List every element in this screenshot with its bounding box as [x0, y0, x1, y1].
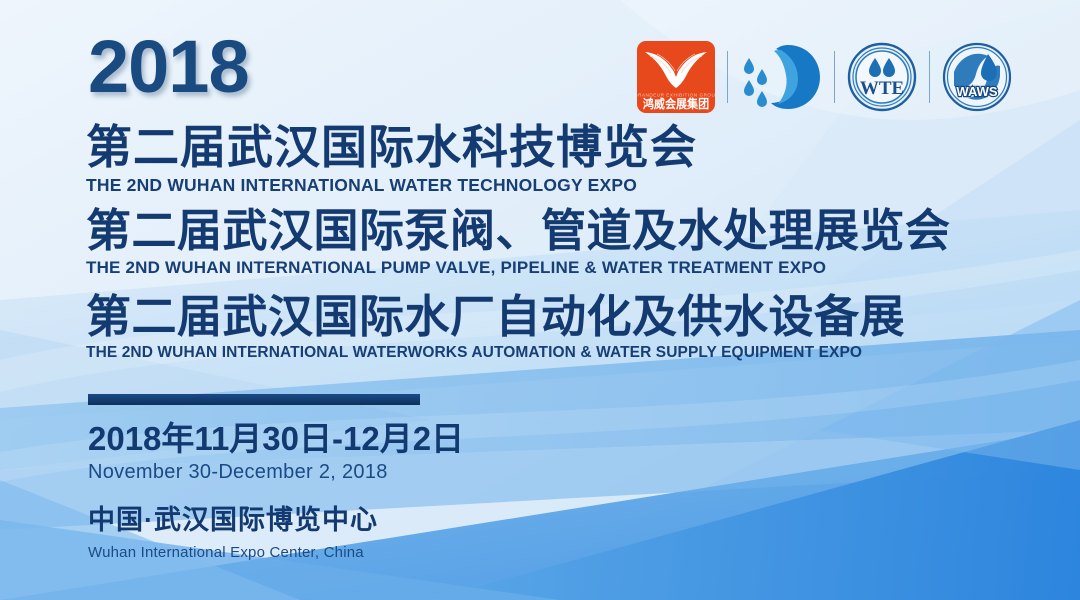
heading-1-english: THE 2ND WUHAN INTERNATIONAL WATER TECHNO…	[86, 175, 697, 196]
heading-2-english: THE 2ND WUHAN INTERNATIONAL PUMP VALVE, …	[86, 258, 951, 278]
expo-poster: 2018 GRANDEUR EXHIBITION GROUP 鸿威会展集团	[0, 0, 1080, 600]
logo-separator	[834, 51, 835, 103]
heading-block-pump-valve-pipeline: 第二届武汉国际泵阀、管道及水处理展览会 THE 2ND WUHAN INTERN…	[86, 208, 951, 278]
waws-emblem-icon: WAWS	[942, 42, 1012, 112]
heading-2-chinese: 第二届武汉国际泵阀、管道及水处理展览会	[86, 208, 951, 254]
water-droplet-swirl-icon	[740, 41, 822, 113]
logo-wte: WTE	[847, 42, 917, 112]
heading-3-english: THE 2ND WUHAN INTERNATIONAL WATERWORKS A…	[86, 344, 905, 362]
logo-hongwei-chinese: 鸿威会展集团	[643, 98, 709, 110]
event-date-english: November 30-December 2, 2018	[88, 461, 464, 484]
heading-block-waterworks-automation: 第二届武汉国际水厂自动化及供水设备展 THE 2ND WUHAN INTERNA…	[86, 294, 905, 362]
logo-separator	[727, 51, 728, 103]
event-date-chinese: 2018年11月30日-12月2日	[88, 420, 464, 458]
section-divider	[88, 394, 420, 405]
logo-waws: WAWS	[942, 42, 1012, 112]
heading-block-water-technology: 第二届武汉国际水科技博览会 THE 2ND WUHAN INTERNATIONA…	[86, 124, 697, 196]
event-venue-english: Wuhan International Expo Center, China	[88, 544, 464, 561]
logo-separator	[929, 51, 930, 103]
heading-3-chinese: 第二届武汉国际水厂自动化及供水设备展	[86, 294, 905, 340]
event-venue-chinese: 中国·武汉国际博览中心	[88, 498, 464, 537]
page-title-year: 2018	[88, 30, 249, 104]
logo-water-droplet-swirl	[740, 41, 822, 113]
wte-emblem-icon: WTE	[847, 42, 917, 112]
event-details: 2018年11月30日-12月2日 November 30-December 2…	[88, 420, 464, 561]
logo-hongwei-exhibition-group: GRANDEUR EXHIBITION GROUP 鸿威会展集团	[637, 41, 715, 113]
svg-text:WTE: WTE	[860, 78, 904, 99]
heading-1-chinese: 第二届武汉国际水科技博览会	[86, 124, 697, 171]
svg-text:WAWS: WAWS	[956, 84, 997, 99]
wings-w-icon	[641, 46, 711, 88]
logo-row: GRANDEUR EXHIBITION GROUP 鸿威会展集团	[637, 38, 1012, 116]
